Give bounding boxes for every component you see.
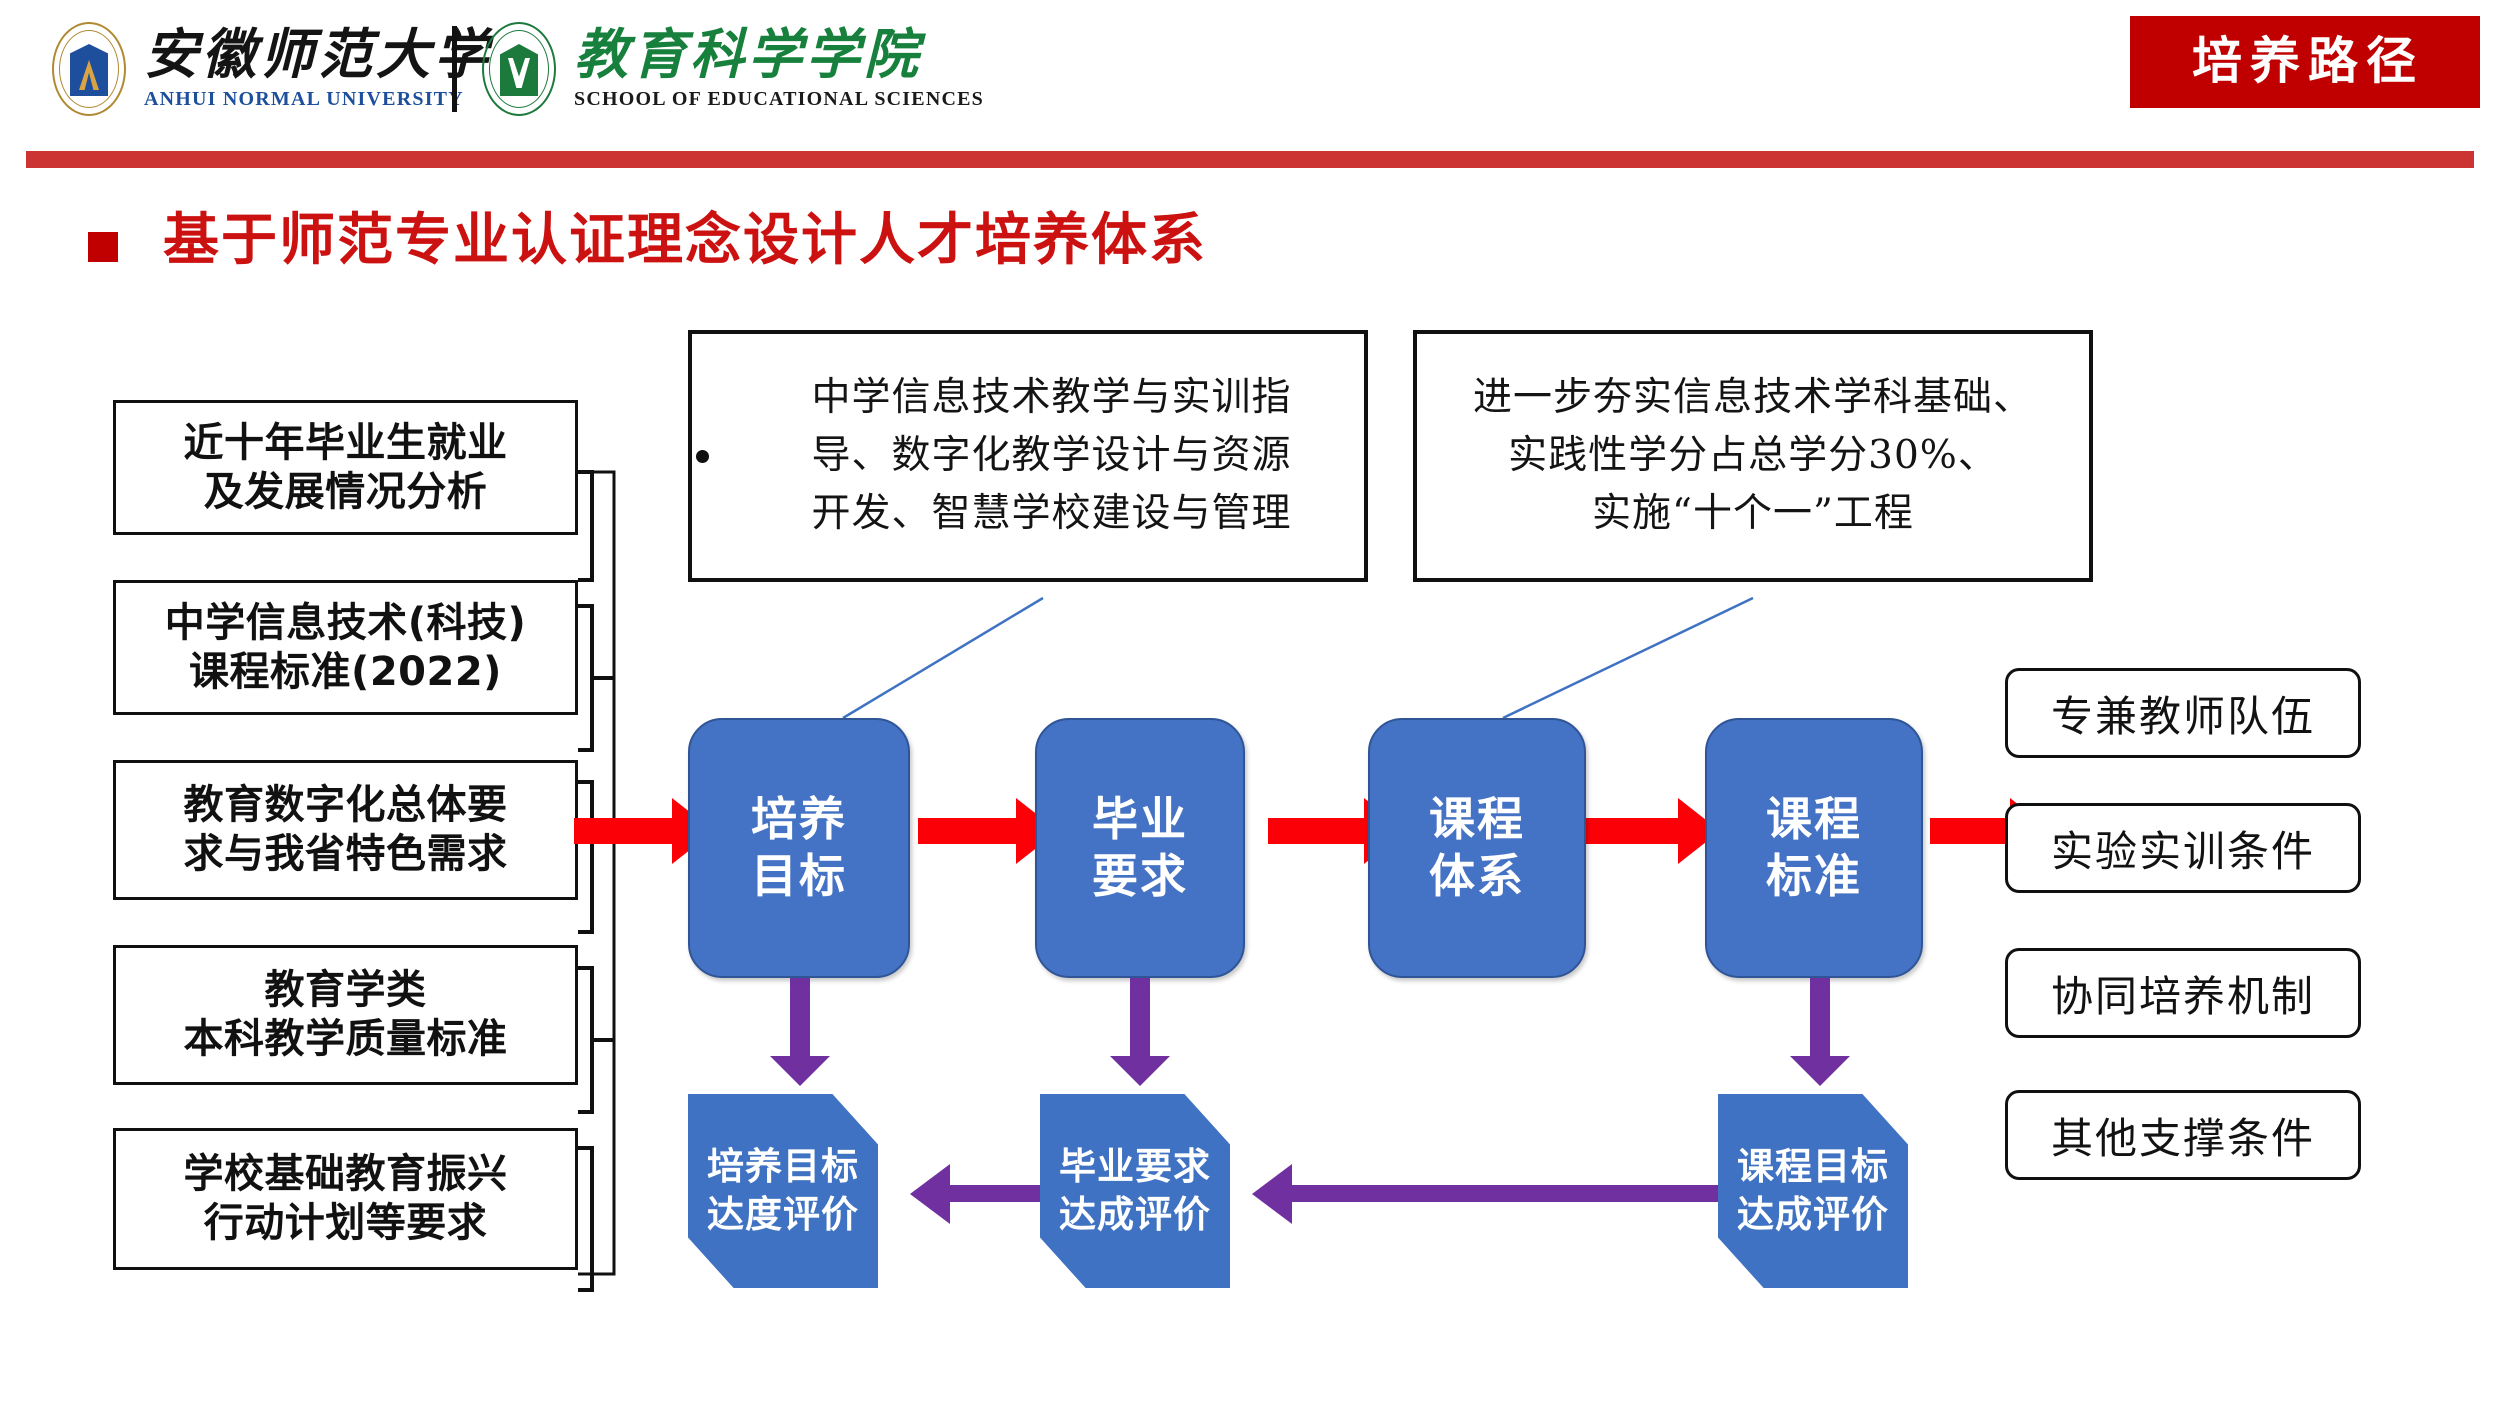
input-box-1-line2: 及发展情况分析: [184, 468, 508, 517]
callout-1-line1: 中学信息技术教学与实训指: [739, 369, 1364, 427]
process-4-line2: 标准: [1766, 848, 1862, 905]
input-box-4-line1: 教育学类: [184, 966, 508, 1015]
flow-arrow-curriculum-to-standard: [1580, 818, 1680, 844]
callout-2-line3: 实施“十个一”工程: [1417, 485, 2089, 543]
support-box-faculty: 专兼教师队伍: [2005, 668, 2361, 758]
input-box-2-line1: 中学信息技术(科技): [165, 599, 527, 648]
eval-box-training-goal-attainment: 培养目标 达度评价: [688, 1094, 878, 1288]
input-box-4: 教育学类 本科教学质量标准: [113, 945, 578, 1085]
callout-1-line3: 开发、智慧学校建设与管理: [739, 485, 1364, 543]
eval-3-line2: 达成评价: [1737, 1191, 1889, 1239]
eval-2-line2: 达成评价: [1059, 1191, 1211, 1239]
flow-arrow-inputs-to-goal: [574, 818, 674, 844]
flow-arrow-standard-to-support: [1930, 818, 2012, 844]
eval-arrow-standard-down: [1810, 978, 1830, 1058]
input-box-5-line1: 学校基础教育振兴: [184, 1150, 508, 1199]
input-box-5: 学校基础教育振兴 行动计划等要求: [113, 1128, 578, 1270]
process-1-line2: 目标: [751, 848, 847, 905]
callout-box-1: 中学信息技术教学与实训指 导、数字化教学设计与资源 开发、智慧学校建设与管理: [688, 330, 1368, 582]
process-3-line2: 体系: [1429, 848, 1525, 905]
logo-divider: [452, 26, 457, 112]
support-box-collaborative-mechanism: 协同培养机制: [2005, 948, 2361, 1038]
process-4-line1: 课程: [1766, 791, 1862, 848]
section-tag-badge: 培养路径: [2130, 16, 2480, 108]
input-box-2: 中学信息技术(科技) 课程标准(2022): [113, 580, 578, 715]
process-box-course-standard: 课程 标准: [1705, 718, 1923, 978]
process-3-line1: 课程: [1429, 791, 1525, 848]
eval-arrow-course-to-graduation: [1290, 1185, 1720, 1202]
callout-2-line2: 实践性学分占总学分30%、: [1417, 427, 2089, 485]
input-box-3: 教育数字化总体要 求与我省特色需求: [113, 760, 578, 900]
page-title: 基于师范专业认证理念设计人才培养体系: [163, 207, 1207, 274]
flow-arrow-goal-to-requirements: [918, 818, 1018, 844]
school-seal-icon: [478, 16, 562, 122]
title-bullet-square-icon: [88, 232, 118, 262]
slide-canvas: 安徽师范大学 ANHUI NORMAL UNIVERSITY 教育科学学院 SC…: [0, 0, 2500, 1406]
university-seal-icon: [48, 16, 132, 122]
process-box-curriculum-system: 课程 体系: [1368, 718, 1586, 978]
university-name-en: ANHUI NORMAL UNIVERSITY: [144, 88, 492, 111]
input-box-5-line2: 行动计划等要求: [184, 1199, 508, 1248]
input-box-1: 近十年毕业生就业 及发展情况分析: [113, 400, 578, 535]
eval-box-graduation-requirement-attainment: 毕业要求 达成评价: [1040, 1094, 1230, 1288]
input-box-3-line1: 教育数字化总体要: [184, 781, 508, 830]
header-rule-divider: [26, 151, 2474, 168]
input-box-1-line1: 近十年毕业生就业: [184, 419, 508, 468]
input-box-4-line2: 本科教学质量标准: [184, 1015, 508, 1064]
process-2-line1: 毕业: [1092, 791, 1188, 848]
school-of-educational-sciences-logo: 教育科学学院 SCHOOL OF EDUCATIONAL SCIENCES: [478, 16, 984, 122]
callout-2-line1: 进一步夯实信息技术学科基础、: [1417, 369, 2089, 427]
eval-arrow-goal-down: [790, 978, 810, 1058]
support-box-other-conditions: 其他支撑条件: [2005, 1090, 2361, 1180]
callout-1-line2: 导、数字化教学设计与资源: [739, 427, 1364, 485]
school-name-en: SCHOOL OF EDUCATIONAL SCIENCES: [574, 88, 984, 111]
callout-bullet-icon: [696, 450, 709, 463]
process-1-line1: 培养: [751, 791, 847, 848]
school-name-cn: 教育科学学院: [574, 27, 984, 81]
callout-box-2: 进一步夯实信息技术学科基础、 实践性学分占总学分30%、 实施“十个一”工程: [1413, 330, 2093, 582]
eval-arrow-requirements-down: [1130, 978, 1150, 1058]
flow-arrow-requirements-to-curriculum: [1268, 818, 1366, 844]
process-box-graduation-requirements: 毕业 要求: [1035, 718, 1245, 978]
eval-2-line1: 毕业要求: [1059, 1143, 1211, 1191]
support-box-lab-conditions: 实验实训条件: [2005, 803, 2361, 893]
process-2-line2: 要求: [1092, 848, 1188, 905]
university-name-cn: 安徽师范大学: [144, 27, 492, 81]
eval-3-line1: 课程目标: [1737, 1143, 1889, 1191]
eval-1-line2: 达度评价: [707, 1191, 859, 1239]
anhui-normal-university-logo: 安徽师范大学 ANHUI NORMAL UNIVERSITY: [48, 16, 492, 122]
eval-1-line1: 培养目标: [707, 1143, 859, 1191]
input-box-2-line2: 课程标准(2022): [165, 648, 527, 697]
process-box-training-goal: 培养 目标: [688, 718, 910, 978]
input-box-3-line2: 求与我省特色需求: [184, 830, 508, 879]
eval-box-course-goal-attainment: 课程目标 达成评价: [1718, 1094, 1908, 1288]
